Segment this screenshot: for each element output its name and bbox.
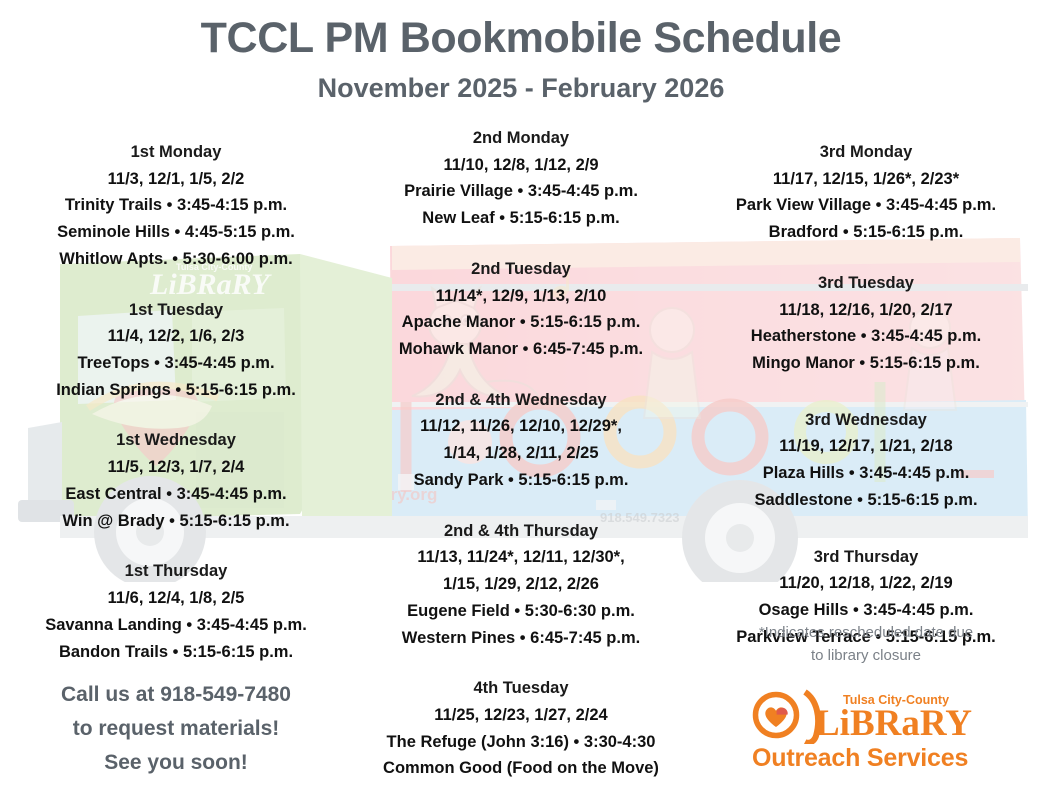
schedule-block-dates: 11/12, 11/26, 12/10, 12/29*, (345, 413, 697, 440)
schedule-block: 2nd & 4th Thursday 11/13, 11/24*, 12/11,… (345, 518, 697, 652)
schedule-stop: Mohawk Manor • 6:45-7:45 p.m. (345, 336, 697, 363)
schedule-stop: Mingo Manor • 5:15-6:15 p.m. (690, 350, 1042, 377)
schedule-block-dates: 11/3, 12/1, 1/5, 2/2 (0, 166, 352, 193)
schedule-stop: New Leaf • 5:15-6:15 p.m. (345, 205, 697, 232)
schedule-stop: Trinity Trails • 3:45-4:15 p.m. (0, 192, 352, 219)
schedule-stop: Prairie Village • 3:45-4:45 p.m. (345, 178, 697, 205)
schedule-block-dates: 11/5, 12/3, 1/7, 2/4 (0, 454, 352, 481)
contact-request-line: to request materials! (0, 712, 352, 746)
schedule-block: 2nd Tuesday 11/14*, 12/9, 1/13, 2/10 Apa… (345, 256, 697, 363)
schedule-stop: Whitlow Apts. • 5:30-6:00 p.m. (0, 246, 352, 273)
schedule-block-title: 2nd & 4th Thursday (345, 518, 697, 545)
schedule-block-dates-cont: 1/14, 1/28, 2/11, 2/25 (345, 440, 697, 467)
contact-closing-line: See you soon! (0, 746, 352, 780)
schedule-stop: Seminole Hills • 4:45-5:15 p.m. (0, 219, 352, 246)
schedule-block: 1st Monday 11/3, 12/1, 1/5, 2/2 Trinity … (0, 139, 352, 273)
contact-phone-line: Call us at 918-549-7480 (0, 678, 352, 712)
schedule-stop: Win @ Brady • 5:15-6:15 p.m. (0, 508, 352, 535)
footnote-line-1: *Indicates rescheduled date due (690, 622, 1042, 645)
schedule-stop: Eugene Field • 5:30-6:30 p.m. (345, 598, 697, 625)
outreach-services-label: Outreach Services (745, 745, 985, 773)
schedule-block-dates: 11/19, 12/17, 1/21, 2/18 (690, 433, 1042, 460)
schedule-block: 2nd Monday 11/10, 12/8, 1/12, 2/9 Prairi… (345, 125, 697, 232)
footnote-line-2: to library closure (690, 645, 1042, 668)
schedule-stop: Bandon Trails • 5:15-6:15 p.m. (0, 639, 352, 666)
schedule-block-dates: 11/6, 12/4, 1/8, 2/5 (0, 585, 352, 612)
schedule-block-title: 1st Thursday (0, 558, 352, 585)
poster-canvas: www.TulsaLibrary.org LiBRaRY Tulsa City-… (0, 0, 1042, 788)
schedule-stop: East Central • 3:45-4:45 p.m. (0, 481, 352, 508)
schedule-block: 1st Wednesday 11/5, 12/3, 1/7, 2/4 East … (0, 427, 352, 534)
schedule-stop: Sandy Park • 5:15-6:15 p.m. (345, 467, 697, 494)
schedule-stop: Indian Springs • 5:15-6:15 p.m. (0, 377, 352, 404)
schedule-column-1: 1st Monday 11/3, 12/1, 1/5, 2/2 Trinity … (0, 139, 352, 665)
poster-header: TCCL PM Bookmobile Schedule November 202… (0, 0, 1042, 102)
tccl-outreach-services-logo: Tulsa City-County LiBRaRY Outreach Servi… (745, 688, 985, 773)
schedule-block-title: 1st Monday (0, 139, 352, 166)
schedule-block-dates: 11/20, 12/18, 1/22, 2/19 (690, 570, 1042, 597)
schedule-block-title: 3rd Tuesday (690, 270, 1042, 297)
logo-lockup: Tulsa City-County LiBRaRY (745, 688, 985, 744)
schedule-column-3: 3rd Monday 11/17, 12/15, 1/26*, 2/23* Pa… (690, 139, 1042, 651)
schedule-stop: Bradford • 5:15-6:15 p.m. (690, 219, 1042, 246)
contact-block: Call us at 918-549-7480 to request mater… (0, 678, 352, 780)
schedule-block: 1st Thursday 11/6, 12/4, 1/8, 2/5 Savann… (0, 558, 352, 665)
page-subtitle: November 2025 - February 2026 (0, 74, 1042, 102)
schedule-stop: Savanna Landing • 3:45-4:45 p.m. (0, 612, 352, 639)
schedule-block: 3rd Wednesday 11/19, 12/17, 1/21, 2/18 P… (690, 407, 1042, 514)
schedule-stop: The Refuge (John 3:16) • 3:30-4:30 (345, 729, 697, 756)
schedule-block-title: 4th Tuesday (345, 675, 697, 702)
schedule-block-dates: 11/25, 12/23, 1/27, 2/24 (345, 702, 697, 729)
library-wordmark: Tulsa City-County LiBRaRY (803, 688, 989, 744)
footnote-block: *Indicates rescheduled date due to libra… (690, 622, 1042, 667)
schedule-column-2: 2nd Monday 11/10, 12/8, 1/12, 2/9 Prairi… (345, 125, 697, 788)
schedule-block-title: 2nd & 4th Wednesday (345, 387, 697, 414)
schedule-block: 3rd Tuesday 11/18, 12/16, 1/20, 2/17 Hea… (690, 270, 1042, 377)
schedule-block: 4th Tuesday 11/25, 12/23, 1/27, 2/24 The… (345, 675, 697, 788)
schedule-block: 3rd Monday 11/17, 12/15, 1/26*, 2/23* Pa… (690, 139, 1042, 246)
schedule-stop: Plaza Hills • 3:45-4:45 p.m. (690, 460, 1042, 487)
svg-text:LiBRaRY: LiBRaRY (815, 703, 972, 744)
schedule-stop: 4:30-7:30 p.m. (345, 782, 697, 788)
schedule-block-dates: 11/4, 12/2, 1/6, 2/3 (0, 323, 352, 350)
schedule-stop: TreeTops • 3:45-4:45 p.m. (0, 350, 352, 377)
schedule-block-dates: 11/13, 11/24*, 12/11, 12/30*, (345, 544, 697, 571)
heart-in-circle-icon (751, 690, 801, 740)
schedule-block-dates-cont: 1/15, 1/29, 2/12, 2/26 (345, 571, 697, 598)
schedule-block-title: 3rd Thursday (690, 544, 1042, 571)
schedule-block-title: 3rd Wednesday (690, 407, 1042, 434)
schedule-block-dates: 11/10, 12/8, 1/12, 2/9 (345, 152, 697, 179)
schedule-block-title: 2nd Monday (345, 125, 697, 152)
schedule-block-dates: 11/14*, 12/9, 1/13, 2/10 (345, 283, 697, 310)
schedule-block-dates: 11/17, 12/15, 1/26*, 2/23* (690, 166, 1042, 193)
schedule-block-title: 3rd Monday (690, 139, 1042, 166)
schedule-block-title: 2nd Tuesday (345, 256, 697, 283)
schedule-block-title: 1st Tuesday (0, 297, 352, 324)
schedule-block-title: 1st Wednesday (0, 427, 352, 454)
schedule-stop: Osage Hills • 3:45-4:45 p.m. (690, 597, 1042, 624)
schedule-block: 2nd & 4th Wednesday 11/12, 11/26, 12/10,… (345, 387, 697, 494)
schedule-stop: Apache Manor • 5:15-6:15 p.m. (345, 309, 697, 336)
page-title: TCCL PM Bookmobile Schedule (0, 16, 1042, 61)
schedule-stop: Saddlestone • 5:15-6:15 p.m. (690, 487, 1042, 514)
schedule-stop: Common Good (Food on the Move) (345, 755, 697, 782)
schedule-stop: Heatherstone • 3:45-4:45 p.m. (690, 323, 1042, 350)
schedule-block-dates: 11/18, 12/16, 1/20, 2/17 (690, 297, 1042, 324)
schedule-stop: Western Pines • 6:45-7:45 p.m. (345, 625, 697, 652)
schedule-block: 1st Tuesday 11/4, 12/2, 1/6, 2/3 TreeTop… (0, 297, 352, 404)
schedule-stop: Park View Village • 3:45-4:45 p.m. (690, 192, 1042, 219)
